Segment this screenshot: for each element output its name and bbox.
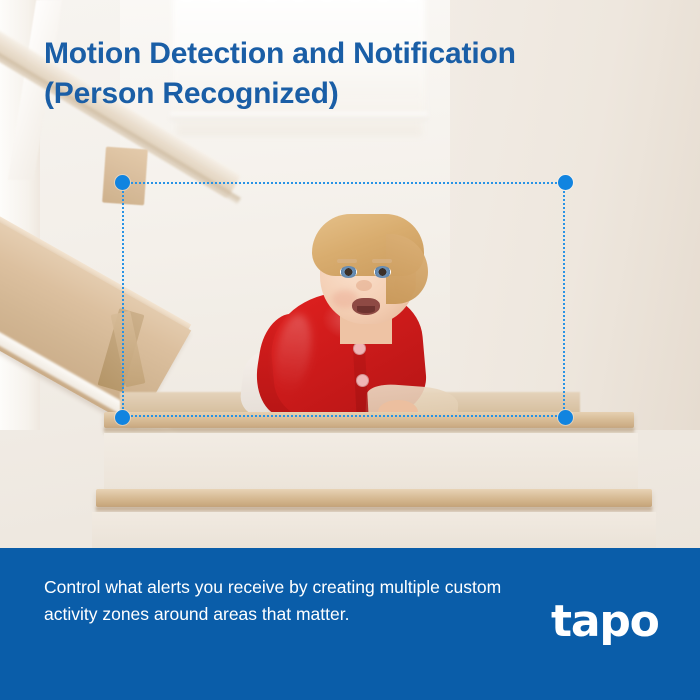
- page-title: Motion Detection and Notification (Perso…: [44, 34, 654, 114]
- page-title-line-2: (Person Recognized): [44, 74, 654, 114]
- promo-image: Motion Detection and Notification (Perso…: [0, 0, 700, 700]
- stair-riser-2: [92, 512, 656, 548]
- stair-riser-1: [104, 433, 638, 491]
- tapo-logo: tapo: [551, 600, 659, 644]
- zone-handle-bottom-left[interactable]: [115, 410, 130, 425]
- window-blind-scallop: [173, 0, 425, 16]
- page-title-line-1: Motion Detection and Notification: [44, 34, 654, 74]
- zone-handle-bottom-right[interactable]: [558, 410, 573, 425]
- zone-handle-top-right[interactable]: [558, 175, 573, 190]
- stair-nosing-2: [96, 489, 652, 507]
- banner-description: Control what alerts you receive by creat…: [44, 574, 524, 628]
- zone-handle-top-left[interactable]: [115, 175, 130, 190]
- activity-zone-rect[interactable]: [122, 182, 565, 417]
- bottom-banner: Control what alerts you receive by creat…: [0, 548, 700, 700]
